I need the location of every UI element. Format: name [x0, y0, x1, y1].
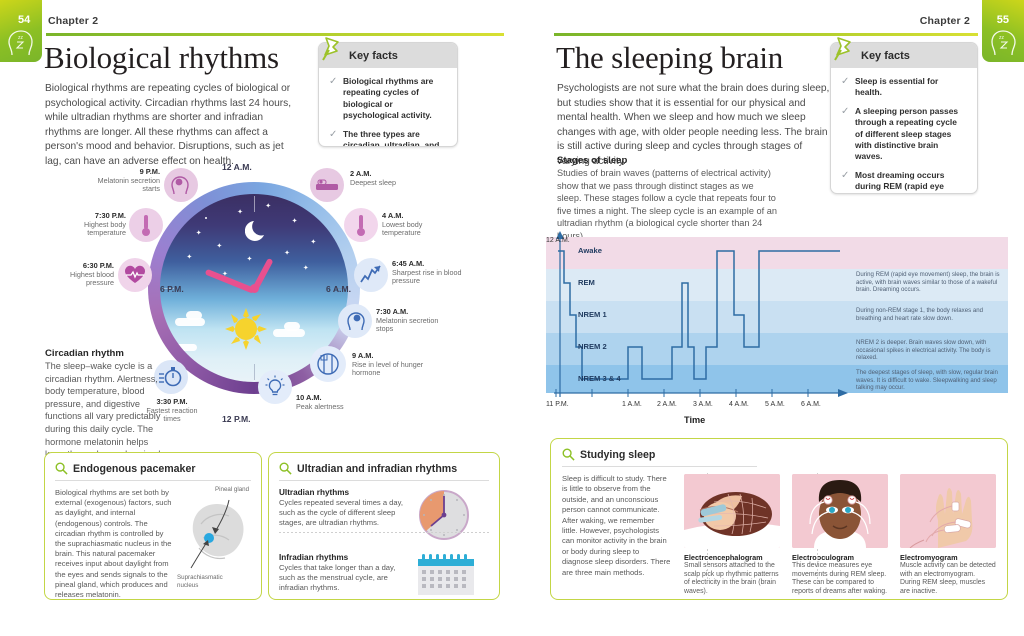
rising-arrow-icon — [359, 264, 383, 286]
clock-node-label-9am: 9 A.M. Rise in level of hunger hormone — [352, 352, 426, 378]
check-icon: ✓ — [841, 76, 850, 99]
studying-sleep-body: Sleep is difficult to study. There is li… — [562, 474, 672, 578]
calendar-icon — [417, 553, 475, 597]
heart-icon — [124, 265, 146, 285]
studying-sleep-title-row: Studying sleep — [562, 448, 996, 461]
annotation-nrem1: During non-REM stage 1, the body relaxes… — [856, 307, 1002, 322]
chapter-tab-left: zz — [0, 0, 42, 62]
divider — [279, 532, 489, 533]
clock-node-2am — [310, 168, 344, 202]
x-tick-label: 1 A.M. — [622, 401, 642, 408]
star-icon: ✦ — [310, 239, 316, 246]
cloud-icon — [284, 322, 300, 331]
star-icon: ✦ — [303, 265, 309, 272]
clock-label-6pm: 6 P.M. — [160, 284, 184, 294]
page-number-right: 55 — [997, 14, 1009, 26]
clock-node-label-2am: 2 A.M. Deepest sleep — [350, 170, 420, 187]
stages-of-sleep-note: Stages of sleep Studies of brain waves (… — [557, 155, 777, 243]
method-eog: Electrooculogram This device measures ey… — [792, 474, 888, 596]
method-eeg-name: Electroencephalogram — [684, 553, 780, 562]
magnifier-icon — [562, 448, 575, 461]
key-fact-text: Most dreaming occurs during REM (rapid e… — [855, 170, 967, 194]
star-icon: ✦ — [265, 203, 271, 210]
studying-sleep-box: Studying sleep Sleep is difficult to stu… — [550, 438, 1008, 600]
header-rule-right — [554, 33, 978, 36]
key-fact-item: ✓ A sleeping person passes through a rep… — [841, 106, 967, 163]
check-icon: ✓ — [841, 170, 850, 194]
eeg-illustration — [684, 474, 780, 548]
stage-label-awake: Awake — [578, 246, 602, 255]
star-icon: ✦ — [237, 209, 243, 216]
x-tick-label: 5 A.M. — [765, 401, 785, 408]
star-icon: ✦ — [246, 256, 252, 263]
chapter-label-right: Chapter 2 — [920, 15, 970, 27]
clock-node-label-630pm: 6:30 P.M. Highest blood pressure — [48, 262, 114, 288]
bed-icon — [315, 177, 339, 193]
annotation-nrem2: NREM 2 is deeper. Brain waves slow down,… — [856, 339, 1002, 362]
divider — [562, 466, 757, 467]
lightbulb-icon — [264, 375, 286, 399]
method-eeg: Electroencephalogram Small sensors attac… — [684, 474, 780, 596]
clock-node-label-730am: 7:30 A.M. Melatonin secretion stops — [376, 308, 448, 334]
ultradian-infradian-box: Ultradian and infradian rhythms Ultradia… — [268, 452, 500, 600]
ultradian-infradian-title: Ultradian and infradian rhythms — [297, 463, 457, 475]
x-axis-title: Time — [684, 415, 705, 425]
endogenous-pacemaker-box: Endogenous pacemaker Biological rhythms … — [44, 452, 262, 600]
clock-node-730pm — [129, 208, 163, 242]
clock-node-label-9pm: 9 P.M. Melatonin secretion starts — [94, 168, 160, 194]
key-fact-text: Biological rhythms are repeating cycles … — [343, 76, 447, 122]
method-eeg-desc: Small sensors attached to the scalp pick… — [684, 562, 780, 596]
star-icon — [205, 217, 207, 219]
header-rule-left — [46, 33, 504, 36]
magnifier-icon — [55, 462, 68, 475]
stages-heading: Stages of sleep — [557, 155, 777, 166]
infradian-heading: Infradian rhythms — [279, 553, 407, 562]
clock-node-label-4am: 4 A.M. Lowest body temperature — [382, 212, 452, 238]
circadian-note-body: The sleep–wake cycle is a circadian rhyt… — [45, 360, 165, 461]
suprachiasmatic-nucleus-label: Suprachiasmatic nucleus — [177, 574, 239, 589]
node-desc: Rise in level of hunger hormone — [352, 360, 423, 378]
star-icon: ✦ — [284, 250, 290, 257]
clock-hub — [250, 284, 259, 293]
magnifier-icon — [279, 462, 292, 475]
cloud-icon — [186, 311, 202, 320]
x-tick-label: 12 A.M. — [546, 237, 570, 244]
stages-body: Studies of brain waves (patterns of elec… — [557, 167, 777, 243]
stage-label-nrem2: NREM 2 — [578, 342, 607, 351]
check-icon: ✓ — [841, 106, 850, 163]
star-icon: ✦ — [196, 230, 202, 237]
studying-sleep-title: Studying sleep — [580, 449, 655, 461]
emg-illustration — [900, 474, 996, 548]
x-tick-label: 6 A.M. — [801, 401, 821, 408]
emg-hand-electrodes-illustration — [900, 474, 996, 548]
key-fact-item: ✓ The three types are circadian, ultradi… — [329, 129, 447, 147]
chapter-label-left: Chapter 2 — [48, 15, 98, 27]
divider — [279, 480, 489, 481]
clock-label-12am: 12 A.M. — [222, 162, 252, 172]
clock-hand-long — [205, 269, 255, 294]
star-icon: ✦ — [292, 218, 298, 225]
clock-node-10am — [258, 370, 292, 404]
node-desc: Peak alertness — [296, 402, 344, 411]
brain-diagram: Pineal gland Suprachiasmatic nucleus — [181, 488, 251, 598]
check-icon: ✓ — [329, 76, 338, 122]
cloud-icon — [171, 344, 197, 351]
node-desc: Sharpest rise in blood pressure — [392, 268, 462, 286]
x-tick-label: 3 A.M. — [693, 401, 713, 408]
moon-icon — [245, 217, 271, 243]
clock-node-9pm — [164, 168, 198, 202]
clock-node-label-645am: 6:45 A.M. Sharpest rise in blood pressur… — [392, 260, 462, 286]
key-fact-item: ✓ Biological rhythms are repeating cycle… — [329, 76, 447, 122]
brain-illustration — [181, 488, 251, 576]
key-facts-panel-right: Key facts ✓ Sleep is essential for healt… — [830, 42, 978, 194]
node-desc: Highest body temperature — [84, 220, 126, 238]
pineal-gland-label: Pineal gland — [215, 486, 251, 494]
page-title-left: Biological rhythms — [44, 40, 279, 76]
hypnogram-chart: Awake REM NREM 1 NREM 2 NREM 3 & 4 11 P.… — [546, 237, 1008, 397]
thermometer-icon — [139, 213, 153, 237]
method-eog-desc: This device measures eye movements durin… — [792, 562, 888, 596]
clock-pie-icon — [417, 488, 471, 542]
page-title-right: The sleeping brain — [556, 40, 783, 76]
key-fact-text: The three types are circadian, ultradian… — [343, 129, 447, 147]
node-desc: Deepest sleep — [350, 178, 396, 187]
intro-paragraph-left: Biological rhythms are repeating cycles … — [45, 82, 298, 170]
eog-illustration — [792, 474, 888, 548]
clock-label-6am: 6 A.M. — [326, 284, 351, 294]
key-facts-list-right: ✓ Sleep is essential for health. ✓ A sle… — [831, 68, 977, 194]
method-emg-name: Electromyogram — [900, 553, 996, 562]
node-desc: Lowest body temperature — [382, 220, 422, 238]
clock-node-label-730pm: 7:30 P.M. Highest body temperature — [60, 212, 126, 238]
eog-face-electrodes-illustration — [792, 474, 888, 548]
endogenous-pacemaker-title-row: Endogenous pacemaker — [55, 462, 251, 475]
ultradian-body: Cycles repeated several times a day, suc… — [279, 498, 407, 528]
right-page: zz 55 Chapter 2 The sleeping brain Psych… — [512, 0, 1024, 636]
plate-cutlery-icon — [315, 352, 341, 376]
clock-tick-12pm — [254, 364, 255, 380]
method-emg: Electromyogram Muscle activity can be de… — [900, 474, 996, 596]
clock-node-630pm — [118, 258, 152, 292]
method-eog-name: Electrooculogram — [792, 553, 888, 562]
node-desc: Highest blood pressure — [70, 270, 114, 288]
clock-node-9am — [310, 346, 346, 382]
x-tick-label: 11 P.M. — [546, 401, 569, 408]
left-page: zz 54 Chapter 2 Biological rhythms Biolo… — [0, 0, 512, 636]
sun-icon — [224, 307, 268, 351]
check-icon: ✓ — [329, 129, 338, 147]
infradian-body: Cycles that take longer than a day, such… — [279, 563, 407, 593]
key-fact-item: ✓ Most dreaming occurs during REM (rapid… — [841, 170, 967, 194]
key-fact-text: A sleeping person passes through a repea… — [855, 106, 967, 163]
pushpin-icon — [834, 36, 858, 62]
eeg-head-cap-illustration — [684, 474, 780, 548]
stage-label-nrem34: NREM 3 & 4 — [578, 374, 621, 383]
clock-node-label-10am: 10 A.M. Peak alertness — [296, 394, 362, 411]
clock-node-645am — [354, 258, 388, 292]
ultradian-infradian-title-row: Ultradian and infradian rhythms — [279, 462, 489, 475]
svg-text:zz: zz — [18, 35, 24, 41]
x-tick-label: 4 A.M. — [729, 401, 749, 408]
sleeping-head-icon: zz — [990, 29, 1016, 59]
page-number-left: 54 — [18, 14, 30, 26]
annotation-nrem34: The deepest stages of sleep, with slow, … — [856, 369, 1002, 392]
circadian-rhythm-note: Circadian rhythm The sleep–wake cycle is… — [45, 348, 165, 461]
key-fact-item: ✓ Sleep is essential for health. — [841, 76, 967, 99]
clock-node-730am — [338, 304, 372, 338]
circadian-clock-diagram: ✦ ✦ ✦ ✦ ✦ ✦ ✦ ✦ ✦ ✦ ✦ — [130, 164, 382, 434]
star-icon: ✦ — [216, 243, 222, 250]
annotation-rem: During REM (rapid eye movement) sleep, t… — [856, 271, 1002, 294]
clock-node-4am — [344, 208, 378, 242]
chapter-tab-right: zz — [982, 0, 1024, 62]
clock-label-12pm: 12 P.M. — [222, 414, 251, 424]
node-desc: Melatonin secretion starts — [98, 176, 160, 194]
head-brain-icon — [170, 174, 192, 196]
thermometer-icon — [354, 213, 368, 237]
star-icon: ✦ — [186, 254, 192, 261]
stage-label-nrem1: NREM 1 — [578, 310, 607, 319]
endogenous-pacemaker-body: Biological rhythms are set both by exter… — [55, 488, 173, 600]
x-tick-label: 2 A.M. — [657, 401, 677, 408]
circadian-note-heading: Circadian rhythm — [45, 348, 165, 359]
clock-tick-12am — [254, 196, 255, 212]
ultradian-heading: Ultradian rhythms — [279, 488, 407, 497]
head-brain-icon — [344, 310, 366, 332]
method-emg-desc: Muscle activity can be detected with an … — [900, 562, 996, 596]
stage-label-rem: REM — [578, 278, 595, 287]
key-fact-text: Sleep is essential for health. — [855, 76, 967, 99]
divider — [55, 480, 251, 481]
sleeping-head-icon: zz — [8, 29, 34, 59]
endogenous-pacemaker-title: Endogenous pacemaker — [73, 463, 195, 475]
node-desc: Melatonin secretion stops — [376, 316, 438, 334]
svg-text:zz: zz — [999, 35, 1005, 41]
pushpin-icon — [322, 36, 346, 62]
key-facts-list-left: ✓ Biological rhythms are repeating cycle… — [319, 68, 457, 147]
